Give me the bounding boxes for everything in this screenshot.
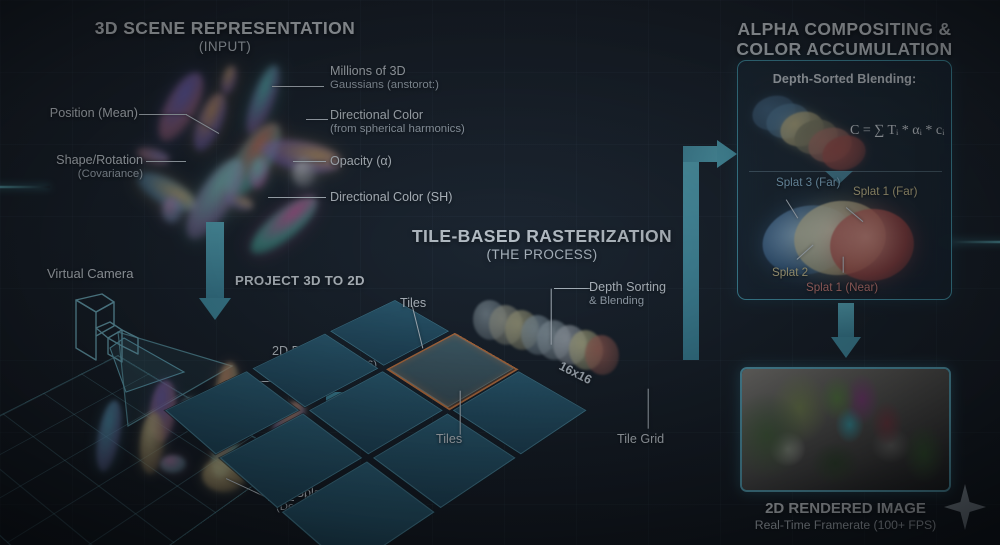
to-output-arrow-head bbox=[831, 337, 861, 358]
label-depth-sorting-subtext: & Blending bbox=[589, 295, 666, 309]
alpha-compositing-panel: Depth-Sorted Blending: C = ∑ Tᵢ * αᵢ * c… bbox=[737, 60, 952, 300]
rendered-image-frame[interactable] bbox=[740, 367, 951, 492]
alpha-formula: C = ∑ Tᵢ * αᵢ * cᵢ bbox=[850, 123, 944, 139]
to-output-arrow-shaft bbox=[838, 303, 854, 339]
leader-tiles-bottom bbox=[459, 391, 460, 435]
output-title: 2D RENDERED IMAGE bbox=[740, 500, 951, 517]
alpha-title-line1: ALPHA COMPOSITING & bbox=[722, 20, 967, 40]
alpha-section-title: ALPHA COMPOSITING & COLOR ACCUMULATION bbox=[722, 20, 967, 59]
label-depth-sorting: Depth Sorting & Blending bbox=[589, 280, 666, 309]
leader-splat1near bbox=[842, 257, 843, 273]
label-splat-1-near: Splat 1 (Near) bbox=[806, 281, 878, 294]
label-tiles-bottom: Tiles bbox=[436, 432, 462, 447]
label-tiles-top: Tiles bbox=[400, 296, 426, 311]
label-splat-2: Splat 2 bbox=[772, 266, 808, 279]
leader-depth-sorting-h bbox=[554, 288, 590, 289]
label-splat-3-far: Splat 3 (Far) bbox=[776, 176, 840, 189]
leader-tile-grid bbox=[647, 389, 648, 429]
leader-depth-sorting-v bbox=[550, 289, 551, 345]
label-splat-1-far: Splat 1 (Far) bbox=[853, 185, 917, 198]
depth-sorted-stack bbox=[752, 96, 862, 158]
label-depth-sorting-text: Depth Sorting bbox=[589, 280, 666, 294]
tile-splat-stack bbox=[473, 300, 633, 370]
to-alpha-arrow-head bbox=[717, 140, 737, 168]
output-subtitle: Real-Time Framerate (100+ FPS) bbox=[725, 518, 966, 532]
to-alpha-arrow-elbow bbox=[683, 146, 721, 162]
rendered-image-sheen bbox=[742, 369, 949, 490]
panel-heading: Depth-Sorted Blending: bbox=[738, 72, 951, 86]
label-tile-grid: Tile Grid bbox=[617, 432, 664, 447]
to-alpha-arrow-shaft bbox=[683, 160, 699, 360]
alpha-title-line2: COLOR ACCUMULATION bbox=[722, 40, 967, 60]
